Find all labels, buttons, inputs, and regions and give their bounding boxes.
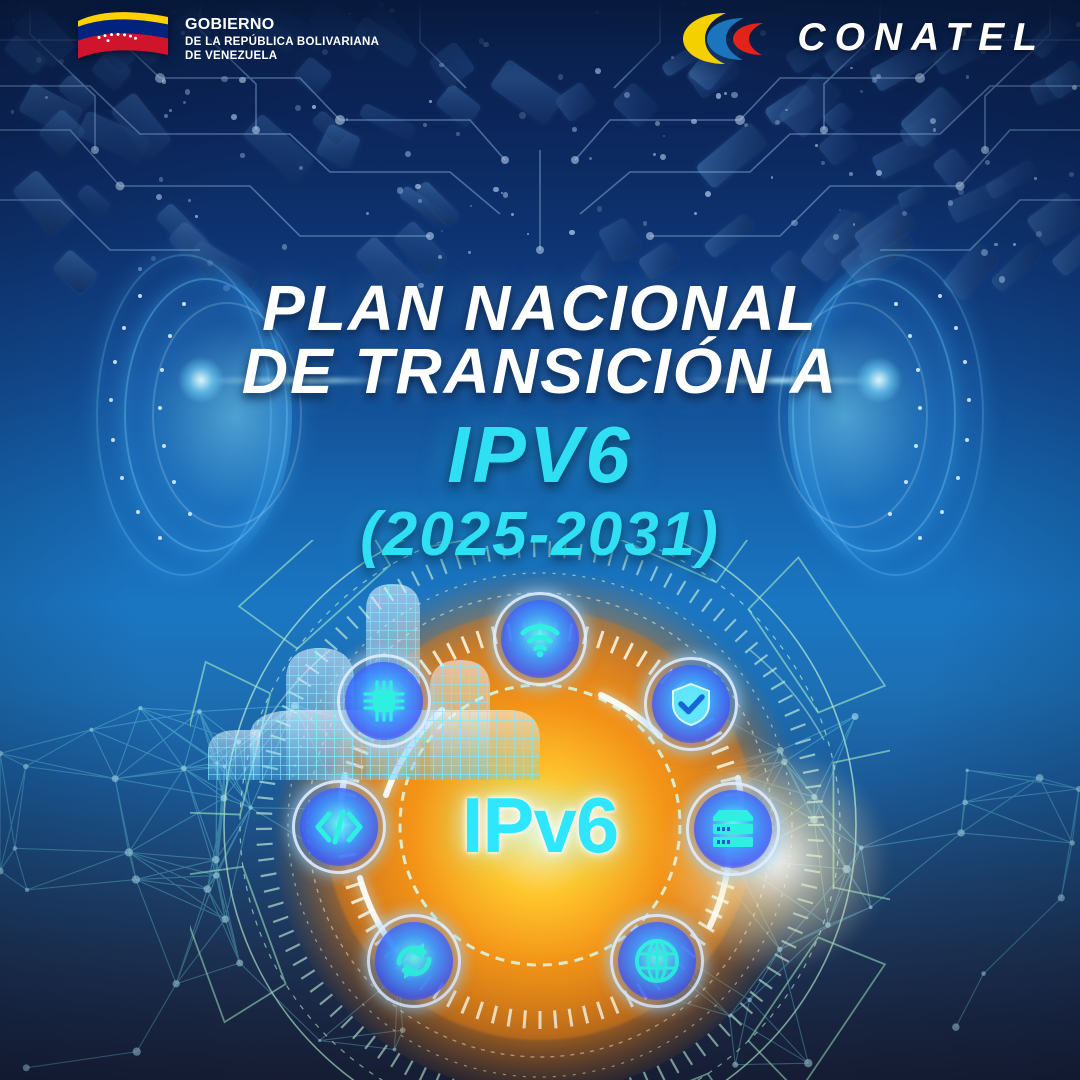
mesh-edge (0, 753, 26, 766)
mesh-edge (961, 833, 1072, 843)
hud-icon-wifi[interactable] (501, 600, 579, 678)
mesh-edge (91, 708, 140, 730)
mesh-node (173, 980, 180, 987)
title-block: PLAN NACIONAL DE TRANSICIÓN A IPV6 (2025… (0, 278, 1080, 570)
mesh-node (1036, 774, 1044, 782)
mesh-node (112, 775, 119, 782)
mesh-edge (965, 778, 1039, 802)
mesh-node (981, 971, 986, 976)
mesh-edge (91, 730, 115, 779)
mesh-edge (0, 753, 15, 848)
mesh-edge (0, 730, 91, 754)
poster-canvas: GOBIERNO DE LA REPÚBLICA BOLIVARIANA DE … (0, 0, 1080, 1080)
mesh-node (1070, 840, 1075, 845)
mesh-node (1058, 894, 1065, 901)
mesh-node (952, 1023, 959, 1030)
conatel-wordmark: CONATEL (797, 16, 1046, 60)
mesh-node (23, 1064, 30, 1071)
shield-check-icon (670, 682, 712, 726)
mesh-edge (965, 802, 1072, 843)
title-years: (2025-2031) (0, 499, 1080, 570)
hud-icon-security[interactable] (652, 665, 730, 743)
mesh-node (957, 829, 964, 836)
mesh-edge (0, 871, 27, 890)
gov-line-1: GOBIERNO (185, 15, 379, 35)
mesh-node (0, 751, 3, 757)
mesh-node (1076, 786, 1080, 792)
mesh-node (25, 888, 29, 892)
gov-line-2: DE LA REPÚBLICA BOLIVARIANA (185, 35, 379, 49)
government-branding: GOBIERNO DE LA REPÚBLICA BOLIVARIANA DE … (75, 8, 379, 66)
hud-icon-code[interactable] (300, 788, 378, 866)
conatel-branding: CONATEL (681, 10, 1046, 66)
mesh-node (962, 800, 968, 806)
mesh-edge (115, 779, 136, 880)
mesh-node (23, 764, 28, 769)
code-icon (314, 809, 364, 845)
mesh-edge (26, 1052, 136, 1068)
sync-icon (391, 939, 437, 983)
mesh-node (138, 706, 142, 710)
mesh-edge (956, 974, 984, 1028)
mesh-edge (26, 766, 115, 778)
government-text: GOBIERNO DE LA REPÚBLICA BOLIVARIANA DE … (185, 8, 379, 63)
page-header: GOBIERNO DE LA REPÚBLICA BOLIVARIANA DE … (0, 0, 1080, 80)
mesh-edge (137, 984, 176, 1052)
ipv6-hud-graphic: IPv6 (190, 540, 890, 1080)
mesh-edge (27, 880, 136, 890)
mesh-node (965, 769, 968, 772)
title-line-2: DE TRANSICIÓN A (0, 341, 1080, 402)
title-ipv6: IPV6 (0, 409, 1080, 501)
gov-line-3: DE VENEZUELA (185, 49, 379, 63)
mesh-edge (15, 848, 129, 852)
mesh-node (133, 1048, 141, 1056)
mesh-edge (129, 768, 184, 852)
mesh-edge (15, 766, 26, 848)
mesh-edge (967, 770, 1079, 789)
hud-icon-sync[interactable] (375, 922, 453, 1000)
mesh-edge (1040, 778, 1073, 843)
mesh-edge (15, 848, 27, 890)
hud-icon-globe[interactable] (618, 922, 696, 1000)
mesh-edge (0, 753, 115, 778)
conatel-swoosh-logo (681, 10, 781, 66)
globe-icon (634, 938, 680, 984)
hud-icon-chip[interactable] (345, 662, 423, 740)
chip-icon (362, 679, 406, 723)
mesh-edge (965, 789, 1079, 802)
hud-icon-server[interactable] (694, 790, 772, 868)
mesh-edge (984, 898, 1062, 974)
server-icon (710, 808, 756, 850)
mesh-node (181, 765, 187, 771)
venezuela-flag-icon (75, 8, 171, 66)
mesh-edge (0, 766, 26, 870)
title-line-1: PLAN NACIONAL (0, 278, 1080, 339)
wifi-icon (518, 619, 562, 659)
mesh-node (125, 848, 133, 856)
mesh-node (13, 846, 18, 851)
mesh-node (132, 875, 140, 883)
mesh-node (89, 728, 93, 732)
mesh-edge (27, 852, 129, 889)
